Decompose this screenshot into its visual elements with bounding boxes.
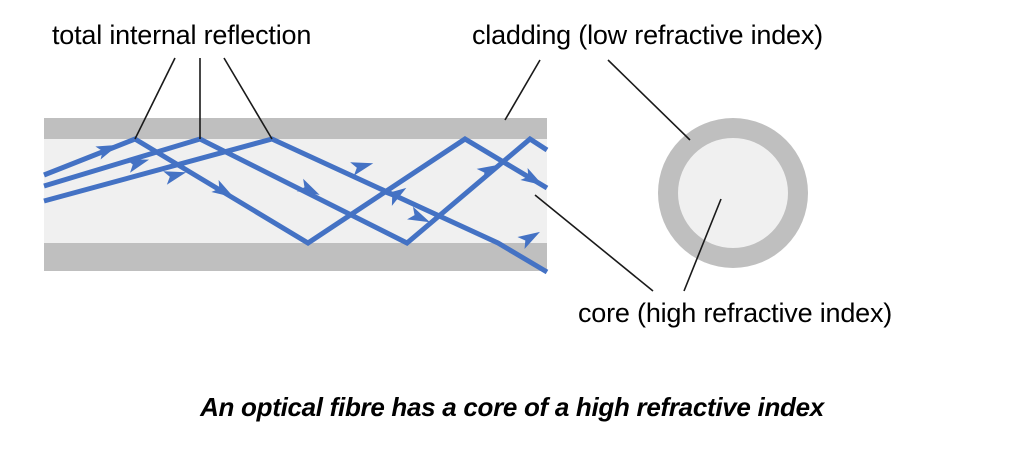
optical-fibre-diagram: total internal reflection cladding (low … [0, 0, 1024, 449]
diagram-shapes-layer [0, 0, 1024, 449]
label-cladding: cladding (low refractive index) [472, 22, 823, 49]
label-core: core (high refractive index) [578, 300, 892, 327]
label-total-internal-reflection: total internal reflection [52, 22, 311, 49]
leader-core-left [535, 195, 653, 291]
leader-cladding-left [505, 60, 540, 120]
core-cross-section [678, 138, 788, 248]
fibre-cross-section [658, 118, 808, 268]
leader-cladding-right [608, 60, 690, 140]
diagram-caption: An optical fibre has a core of a high re… [0, 392, 1024, 423]
